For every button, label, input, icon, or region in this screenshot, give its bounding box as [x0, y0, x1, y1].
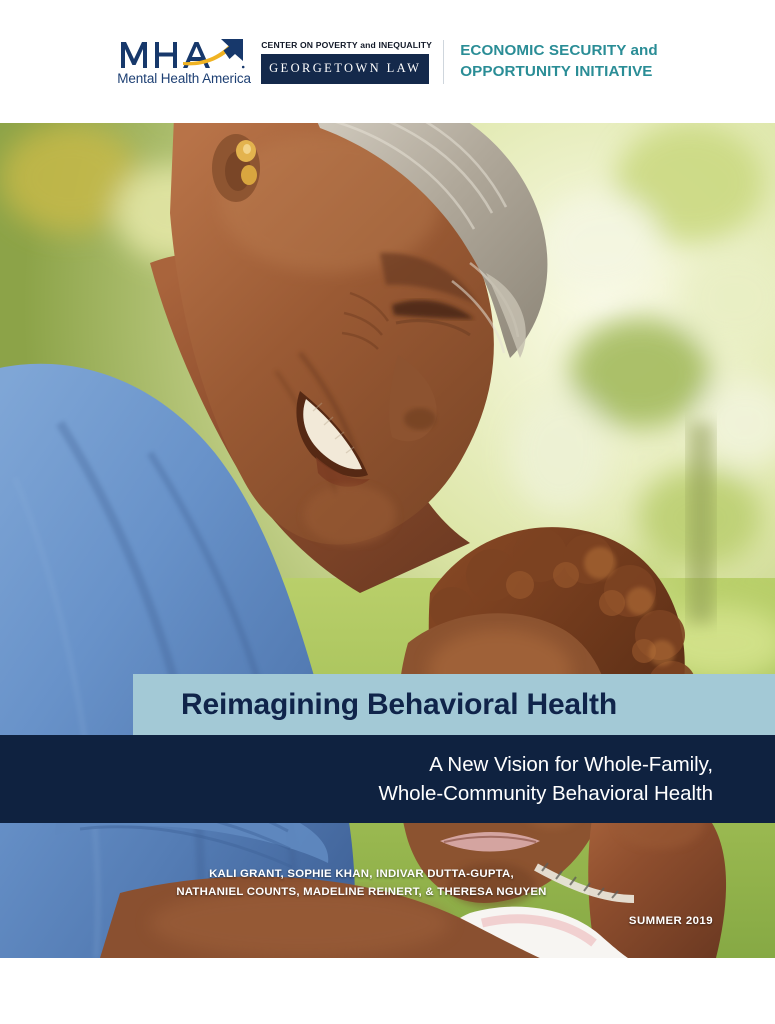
logo-row: Mental Health America CENTER ON POVERTY … [117, 37, 658, 86]
photo-illustration [0, 123, 775, 958]
header-divider [443, 40, 444, 84]
report-title: Reimagining Behavioral Health [133, 688, 617, 722]
report-cover-page: Mental Health America CENTER ON POVERTY … [0, 0, 775, 1024]
cover-header-logos: Mental Health America CENTER ON POVERTY … [0, 0, 775, 123]
mha-wordmark-icon [117, 37, 245, 70]
report-subtitle-line-2: Whole-Community Behavioral Health [379, 779, 775, 808]
authors-line-2: NATHANIEL COUNTS, MADELINE REINERT, & TH… [0, 884, 723, 902]
authors-line-1: KALI GRANT, SOPHIE KHAN, INDIVAR DUTTA-G… [0, 866, 723, 884]
initiative-line-2: OPPORTUNITY INITIATIVE [460, 62, 658, 82]
subtitle-band: A New Vision for Whole-Family, Whole-Com… [0, 735, 775, 823]
publication-date: SUMMER 2019 [0, 915, 775, 927]
report-subtitle-line-1: A New Vision for Whole-Family, [429, 750, 775, 779]
center-on-poverty-label: CENTER ON POVERTY and INEQUALITY [261, 40, 429, 50]
mha-tagline: Mental Health America [117, 71, 245, 86]
georgetown-law-bar: GEORGETOWN LAW [261, 54, 429, 84]
title-band: Reimagining Behavioral Health [133, 674, 775, 735]
cover-footer-whitespace [0, 958, 775, 1024]
economic-security-initiative-label: ECONOMIC SECURITY and OPPORTUNITY INITIA… [460, 41, 658, 81]
initiative-line-1: ECONOMIC SECURITY and [460, 41, 658, 61]
mental-health-america-logo: Mental Health America [117, 37, 245, 86]
georgetown-law-logo: CENTER ON POVERTY and INEQUALITY GEORGET… [261, 40, 429, 84]
cover-photograph [0, 123, 775, 958]
authors-block: KALI GRANT, SOPHIE KHAN, INDIVAR DUTTA-G… [0, 866, 775, 901]
